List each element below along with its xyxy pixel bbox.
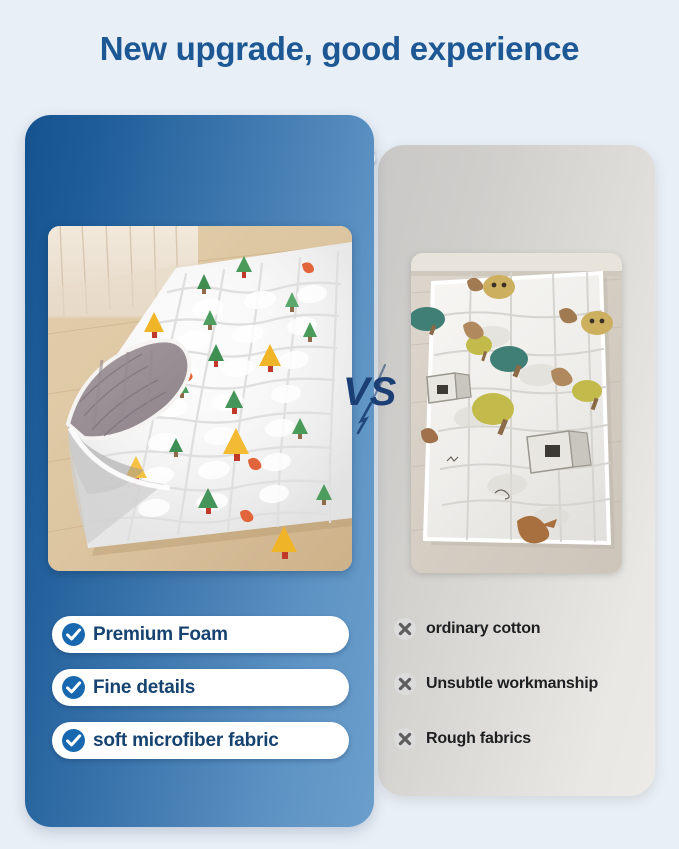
list-item-label: Premium Foam (93, 624, 228, 646)
check-circle-icon (61, 675, 86, 700)
others-feature-list: ordinary cotton Unsubtle workmanship Rou… (393, 614, 648, 779)
list-item-label: soft microfiber fabric (93, 730, 279, 752)
others-product-photo (411, 253, 622, 573)
list-item[interactable]: Unsubtle workmanship (393, 669, 648, 699)
cross-circle-icon (393, 727, 417, 751)
page-title: New upgrade, good experience (0, 30, 679, 68)
check-circle-icon (61, 622, 86, 647)
list-item[interactable]: soft microfiber fabric (52, 722, 349, 759)
list-item-label: ordinary cotton (426, 620, 540, 638)
check-circle-icon (61, 728, 86, 753)
ours-product-photo (48, 226, 352, 571)
cross-circle-icon (393, 672, 417, 696)
ours-feature-list: Premium Foam Fine details soft microfibe… (52, 616, 349, 775)
list-item-label: Rough fabrics (426, 730, 531, 748)
others-photo-illustration (411, 253, 622, 573)
list-item-label: Unsubtle workmanship (426, 675, 598, 693)
list-item[interactable]: Rough fabrics (393, 724, 648, 754)
ours-photo-illustration (48, 226, 352, 571)
cross-circle-icon (393, 617, 417, 641)
list-item[interactable]: ordinary cotton (393, 614, 648, 644)
list-item-label: Fine details (93, 677, 195, 699)
list-item[interactable]: Premium Foam (52, 616, 349, 653)
list-item[interactable]: Fine details (52, 669, 349, 706)
